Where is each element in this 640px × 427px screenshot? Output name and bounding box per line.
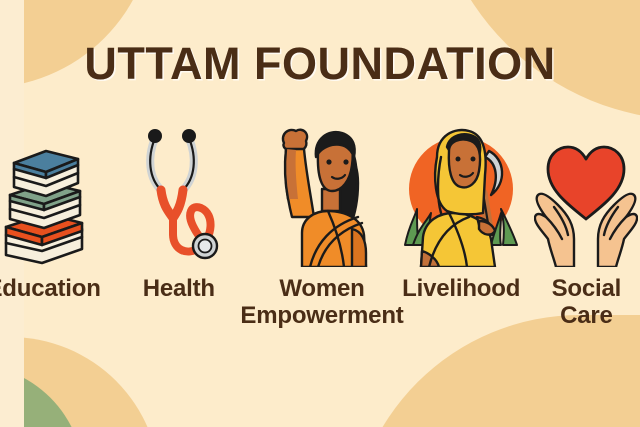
stethoscope-icon [131, 122, 227, 267]
education-art [0, 112, 92, 267]
poster-canvas: UTTAM FOUNDATION [0, 0, 640, 427]
farmer-with-sickle-icon [403, 117, 519, 267]
eye-left [456, 157, 461, 162]
livelihood-art [403, 112, 519, 267]
health-art [131, 112, 227, 267]
pillar-label-livelihood: Livelihood [402, 276, 520, 303]
stacked-books-icon [0, 139, 92, 267]
pillar-livelihood[interactable]: Livelihood [402, 112, 521, 303]
woman-raised-fist-icon [266, 117, 378, 267]
pillar-label-women-empowerment: Women Empowerment [240, 276, 403, 330]
social-label-line1: Social [552, 276, 622, 303]
pillar-education[interactable]: Education [0, 112, 103, 303]
pillars-row: Education [0, 112, 640, 330]
education-label-line1: Education [0, 276, 101, 303]
social-care-art [534, 112, 638, 267]
decorative-blob-bottom-left-tan [0, 337, 160, 427]
pillar-women-empowerment[interactable]: Women Empowerment [240, 112, 403, 330]
women-label-line2: Empowerment [240, 303, 403, 330]
heart-in-hands-icon [534, 127, 638, 267]
social-label-line2: Care [552, 303, 622, 330]
eye-right [343, 159, 348, 164]
women-empowerment-art [266, 112, 378, 267]
decorative-blob-bottom-right [350, 315, 640, 427]
women-label-line1: Women [240, 276, 403, 303]
pillar-label-social-care: Social Care [552, 276, 622, 330]
livelihood-label-line1: Livelihood [402, 276, 520, 303]
health-label-line1: Health [143, 276, 215, 303]
pillar-label-health: Health [143, 276, 215, 303]
earpiece-left [148, 129, 162, 143]
eye-right [471, 157, 476, 162]
eye-left [326, 159, 331, 164]
pillar-social-care[interactable]: Social Care [527, 112, 640, 330]
pillar-health[interactable]: Health [119, 112, 238, 303]
pillar-label-education: Education [0, 276, 101, 303]
earpiece-right [182, 129, 196, 143]
page-title: UTTAM FOUNDATION [0, 38, 640, 90]
decorative-blob-bottom-left-green [0, 364, 84, 427]
